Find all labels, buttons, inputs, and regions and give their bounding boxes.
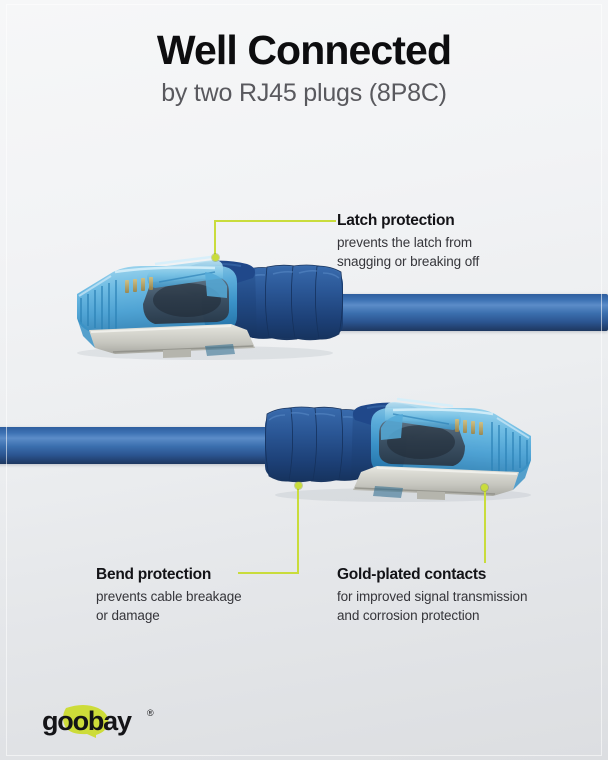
leader-dot-gold [481,484,488,491]
callout-description-line-2: and corrosion protection [337,607,527,626]
leader-segment-vertical [297,486,299,574]
callout-title: Gold-plated contacts [337,566,527,584]
page-title: Well Connected [0,27,608,74]
rj45-plug-bottom [263,380,553,502]
cable-top [318,294,608,331]
logo-wordmark: goobay [42,706,132,736]
callout-description-line-1: for improved signal transmission [337,588,527,607]
leader-dot-latch [212,254,219,261]
callout-title: Bend protection [96,566,242,584]
cable-bottom [0,427,294,464]
leader-segment-horizontal [238,572,299,574]
leader-dot-bend [295,482,302,489]
callout-latch-protection: Latch protection prevents the latch from… [337,212,479,271]
callout-description-line-1: prevents cable breakage [96,588,242,607]
logo-registered-mark: ® [147,708,154,718]
leader-line-gold [480,484,492,564]
leader-line-bend [232,482,306,578]
callout-bend-protection: Bend protection prevents cable breakage … [96,566,242,625]
callout-gold-plated-contacts: Gold-plated contacts for improved signal… [337,566,527,625]
callout-description-line-1: prevents the latch from [337,234,479,253]
page-subtitle: by two RJ45 plugs (8P8C) [0,79,608,108]
leader-segment-vertical [484,487,486,563]
callout-description-line-2: or damage [96,607,242,626]
product-infographic: Well Connected by two RJ45 plugs (8P8C) [0,0,608,760]
callout-description-line-2: snagging or breaking off [337,253,479,272]
leader-line-latch [206,214,336,266]
leader-segment-horizontal [214,220,336,222]
callout-title: Latch protection [337,212,479,230]
goobay-logo: goobay ® [40,702,160,738]
